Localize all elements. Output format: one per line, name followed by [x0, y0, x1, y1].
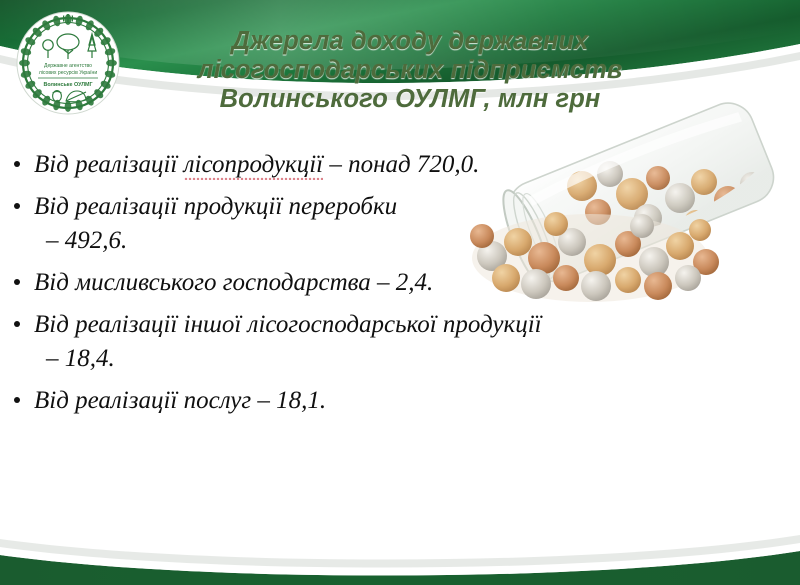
slide-title-line-3: Волинського ОУЛМГ, млн грн [140, 85, 680, 114]
bottom-green-banner [0, 525, 800, 585]
bullet-dot-icon [14, 321, 20, 327]
bullet-text-post: – понад 720,0. [323, 151, 479, 178]
bullet-list: Від реалізації лісопродукції – понад 720… [0, 148, 800, 426]
bullet-line-2: – 18,4. [34, 342, 734, 376]
bullet-dot-icon [14, 203, 20, 209]
slide-canvas: Державне агентство лісових ресурсів Укра… [0, 0, 800, 585]
bullet-line-1: Від мисливського господарства – 2,4. [34, 266, 734, 300]
emblem-text-line3: Волинське ОУЛМГ [43, 82, 92, 88]
list-item: Від реалізації продукції переробки – 492… [0, 190, 734, 258]
list-item: Від реалізації іншої лісогосподарської п… [0, 308, 734, 376]
bullet-line-1: Від реалізації продукції переробки [34, 190, 734, 224]
slide-title-line-1: Джерела доходу державних [140, 27, 680, 56]
emblem-text-line2: лісових ресурсів України [39, 70, 98, 76]
bullet-line-2: – 492,6. [34, 224, 734, 258]
misspelled-word: лісопродукції [184, 151, 324, 180]
slide-title-line-2: лісогосподарських підприємств [140, 56, 680, 85]
bullet-dot-icon [14, 279, 20, 285]
bullet-dot-icon [14, 161, 20, 167]
emblem-text-line1: Державне агентство [44, 63, 92, 69]
slide-title: Джерела доходу державних лісогосподарськ… [140, 27, 680, 114]
list-item: Від мисливського господарства – 2,4. [0, 266, 734, 300]
list-item: Від реалізації лісопродукції – понад 720… [0, 148, 734, 182]
bullet-line-1: Від реалізації послуг – 18,1. [34, 384, 734, 418]
bullet-dot-icon [14, 397, 20, 403]
bullet-line-1: Від реалізації лісопродукції – понад 720… [34, 148, 734, 182]
bullet-text-pre: Від реалізації [34, 151, 184, 178]
emblem-forest-agency-icon: Державне агентство лісових ресурсів Укра… [16, 11, 120, 115]
list-item: Від реалізації послуг – 18,1. [0, 384, 734, 418]
bullet-line-1: Від реалізації іншої лісогосподарської п… [34, 308, 734, 342]
